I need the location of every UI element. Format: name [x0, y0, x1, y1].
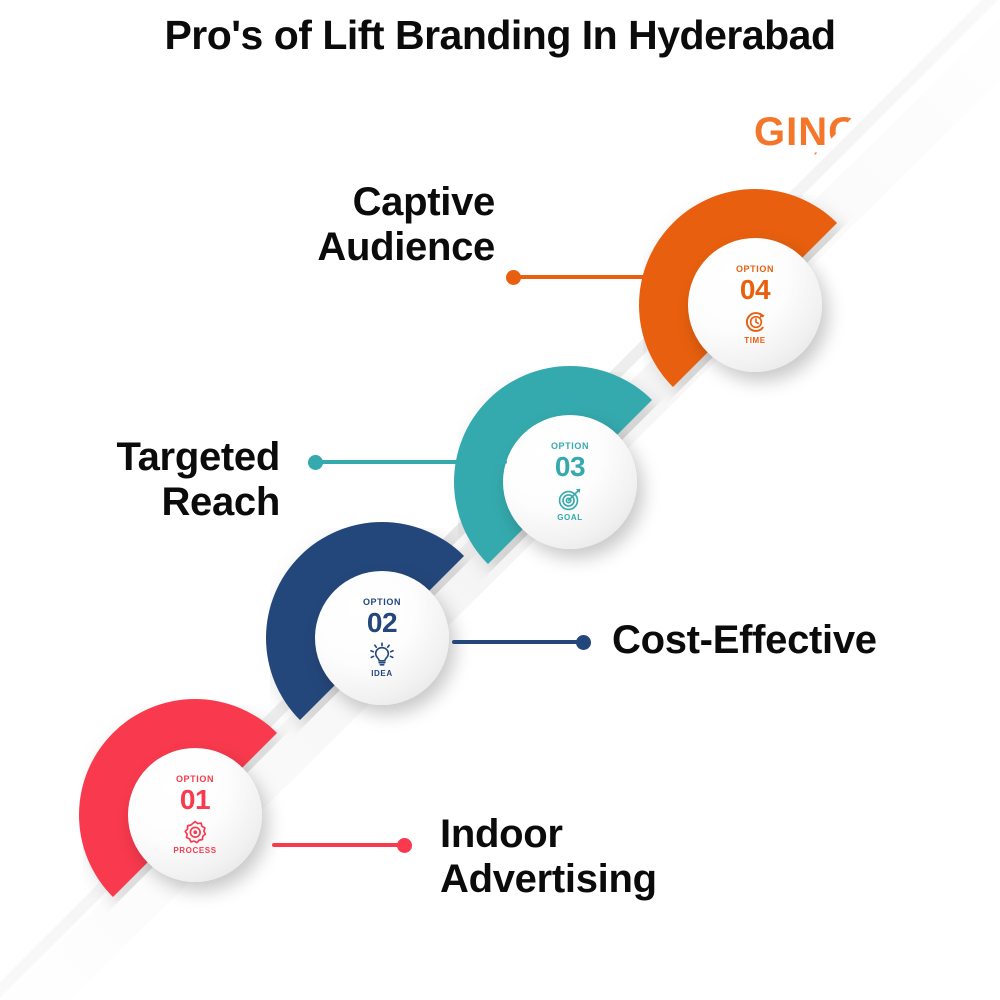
step-03-callout: Targeted Reach: [0, 435, 280, 525]
step-02-connector: [452, 640, 587, 644]
step-01-icon-label: PROCESS: [173, 847, 216, 855]
step-01-connector: [272, 843, 408, 847]
step-03-icon-label: GOAL: [557, 514, 583, 522]
step-04-number: 04: [740, 276, 770, 304]
step-01-option-word: OPTION: [176, 775, 214, 784]
target-icon: [557, 486, 583, 512]
step-02-option-word: OPTION: [363, 598, 401, 607]
lightbulb-icon: [369, 642, 395, 668]
step-03-number: 03: [555, 453, 585, 481]
step-04-connector: [510, 275, 690, 279]
ginger-media-group-logo: GINGER MEDIA GROUP: [748, 92, 938, 172]
infographic-canvas: Pro's of Lift Branding In Hyderabad GING…: [0, 0, 1000, 1000]
step-04-connector-dot: [506, 270, 521, 285]
step-01-number: 01: [180, 786, 210, 814]
logo-wordmark: GINGER: [754, 112, 918, 152]
step-02-callout: Cost-Effective: [612, 618, 1000, 663]
gear-icon: [182, 819, 208, 845]
step-02-badge[interactable]: OPTION 02 IDEA: [315, 571, 449, 705]
step-01-callout: Indoor Advertising: [440, 812, 860, 902]
logo-tagline: MEDIA GROUP: [814, 152, 905, 163]
step-04-icon-label: TIME: [744, 337, 766, 345]
step-03-connector-dot: [308, 455, 323, 470]
page-title: Pro's of Lift Branding In Hyderabad: [0, 12, 1000, 59]
step-02-number: 02: [367, 609, 397, 637]
step-02-icon-label: IDEA: [371, 670, 393, 678]
step-03-connector: [312, 460, 507, 464]
corner-bars-icon: [900, 92, 942, 134]
step-01-badge[interactable]: OPTION 01 PROCESS: [128, 748, 262, 882]
step-04-callout: Captive Audience: [150, 180, 495, 270]
clock-icon: [742, 309, 768, 335]
step-04-badge[interactable]: OPTION 04 TIME: [688, 238, 822, 372]
step-03-badge[interactable]: OPTION 03 GOAL: [503, 415, 637, 549]
step-04-option-word: OPTION: [736, 265, 774, 274]
step-03-option-word: OPTION: [551, 442, 589, 451]
step-01-connector-dot: [397, 838, 412, 853]
step-02-connector-dot: [576, 635, 591, 650]
